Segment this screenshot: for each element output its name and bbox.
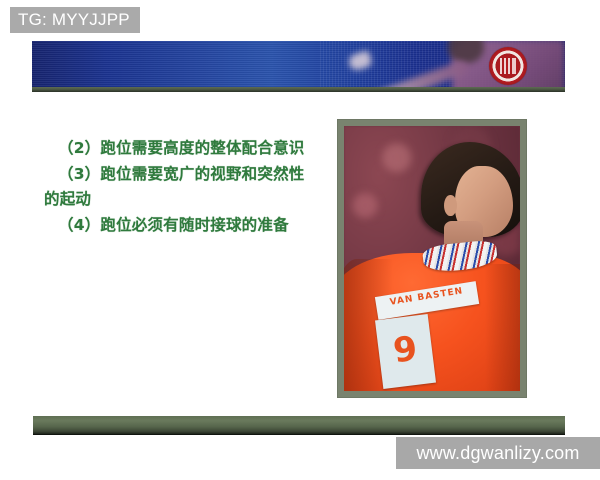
jersey-shadow-right	[485, 264, 520, 391]
banner-bottom-strip	[32, 87, 565, 92]
header-banner	[32, 41, 565, 92]
top-left-watermark: TG: MYYJJPP	[10, 7, 140, 33]
pointing-coach-silhouette	[330, 41, 565, 92]
crest-inner-glyph	[500, 58, 516, 74]
body-line-2: （3）跑位需要宽广的视野和突然性	[44, 162, 334, 188]
slide-body-text: （2）跑位需要高度的整体配合意识 （3）跑位需要宽广的视野和突然性 的起动 （4…	[44, 136, 334, 238]
site-watermark: www.dgwanlizy.com	[396, 437, 600, 469]
body-line-1: （2）跑位需要高度的整体配合意识	[44, 136, 334, 162]
player-ear	[444, 195, 456, 216]
soccer-player-photo: VAN BASTEN 9	[344, 126, 520, 391]
body-line-3: 的起动	[44, 187, 334, 213]
footer-bar	[33, 416, 565, 434]
jersey-number-text: 9	[375, 314, 436, 389]
body-line-4: （4）跑位必须有随时接球的准备	[44, 213, 334, 239]
university-crest-icon	[489, 47, 527, 85]
pointing-hand-icon	[347, 50, 373, 72]
photo-frame: VAN BASTEN 9	[338, 120, 526, 397]
